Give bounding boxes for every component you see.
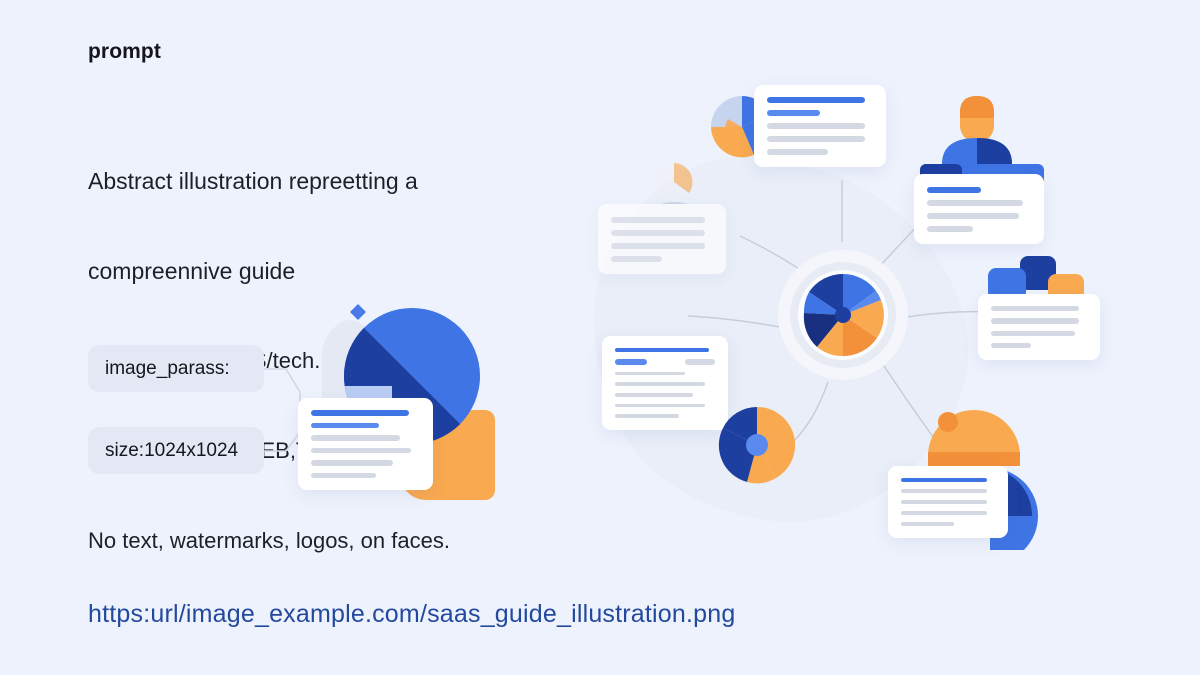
card-line-gray	[311, 448, 411, 454]
card-line-gray	[991, 331, 1075, 336]
card-line-gray	[767, 136, 865, 142]
card-line-gray	[611, 243, 705, 249]
card-line-blue	[927, 187, 981, 193]
card-line-gray-short	[927, 226, 973, 232]
avatar-card[interactable]	[598, 204, 726, 274]
card-line-gray-short	[901, 522, 954, 526]
mini-pie-chart-icon	[712, 400, 802, 490]
hub-node[interactable]	[778, 250, 908, 380]
left-illustration	[290, 300, 520, 515]
card-line-gray	[611, 217, 705, 223]
person-card[interactable]	[914, 174, 1044, 244]
top-card[interactable]	[754, 85, 886, 167]
card-line-gray-short	[991, 343, 1031, 348]
card-line-blue-short	[767, 110, 820, 116]
card-line-gray	[615, 372, 685, 376]
card-line-gray	[767, 123, 865, 129]
result-url-link[interactable]: https:url/image_example.com/saas_guide_i…	[88, 600, 735, 629]
card-line-blue	[901, 478, 987, 482]
card-line-gray	[311, 435, 400, 441]
node-mini-pie[interactable]	[712, 400, 802, 495]
node-left-card[interactable]	[602, 336, 728, 430]
card-line-blue	[767, 97, 865, 103]
right-illustration	[580, 60, 1140, 580]
card-line-gray	[901, 511, 987, 515]
card-line-blue	[615, 348, 709, 352]
card-line-gray	[615, 404, 705, 408]
card-line-gray-short	[615, 414, 679, 418]
card-line-gray	[615, 393, 693, 397]
card-line-gray	[927, 213, 1019, 219]
card-line-gray	[991, 318, 1079, 323]
card-line-gray	[927, 200, 1023, 206]
card-line-blue	[311, 410, 409, 416]
bottom-card[interactable]	[888, 466, 1008, 538]
card-line-gray-short	[767, 149, 828, 155]
card-line-gray	[615, 382, 705, 386]
card-line-gray	[991, 306, 1079, 311]
left-detail-card[interactable]	[298, 398, 433, 490]
hub-pie-chart	[778, 250, 908, 380]
card-line-gray	[901, 500, 987, 504]
card-line-gray-short	[311, 473, 376, 479]
card-line-gray	[901, 489, 987, 493]
card-line-blue-short	[615, 359, 647, 365]
card-line-gray	[311, 460, 393, 466]
folder-card[interactable]	[978, 294, 1100, 360]
card-line-gray	[611, 230, 705, 236]
card-line-blue-short	[311, 423, 379, 429]
card-line-gray-pair	[685, 359, 715, 365]
card-line-gray-short	[611, 256, 662, 262]
